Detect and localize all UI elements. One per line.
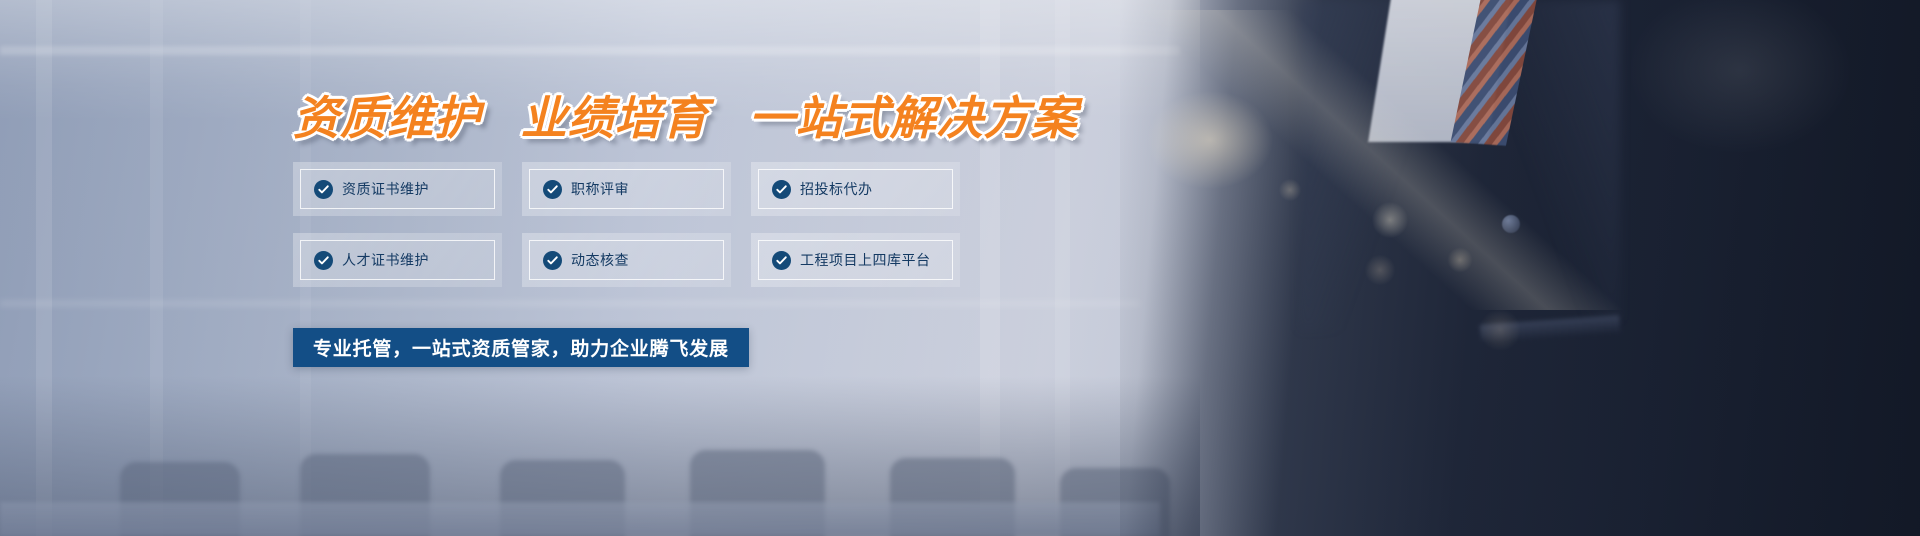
check-circle-icon [314,180,333,199]
service-card-title-evaluation[interactable]: 职称评审 [522,162,731,216]
headline-segment-3: 一站式解决方案 [749,92,1078,144]
service-card-label: 动态核查 [571,250,629,270]
service-card-qualification-certificate-maintenance[interactable]: 资质证书维护 [293,162,502,216]
service-card-label: 人才证书维护 [342,250,429,270]
banner-content: 资质维护 业绩培育 一站式解决方案 资质证书维护 职称评审 [0,0,1920,536]
banner-headline: 资质维护 业绩培育 一站式解决方案 [293,82,1078,148]
service-card-grid: 资质证书维护 职称评审 招投标代办 [293,162,960,287]
service-card-label: 招投标代办 [800,179,873,199]
banner-tagline: 专业托管，一站式资质管家，助力企业腾飞发展 [293,328,749,367]
service-card-bidding-agency[interactable]: 招投标代办 [751,162,960,216]
service-card-talent-certificate-maintenance[interactable]: 人才证书维护 [293,233,502,287]
service-card-label: 工程项目上四库平台 [800,250,931,270]
check-circle-icon [543,180,562,199]
check-circle-icon [772,180,791,199]
headline-segment-2: 业绩培育 [521,92,709,144]
hero-banner: 资质维护 业绩培育 一站式解决方案 资质证书维护 职称评审 [0,0,1920,536]
service-card-label: 资质证书维护 [342,179,429,199]
service-card-dynamic-verification[interactable]: 动态核查 [522,233,731,287]
headline-segment-1: 资质维护 [293,92,481,144]
check-circle-icon [772,251,791,270]
service-card-label: 职称评审 [571,179,629,199]
service-card-project-four-database-platform[interactable]: 工程项目上四库平台 [751,233,960,287]
check-circle-icon [314,251,333,270]
check-circle-icon [543,251,562,270]
